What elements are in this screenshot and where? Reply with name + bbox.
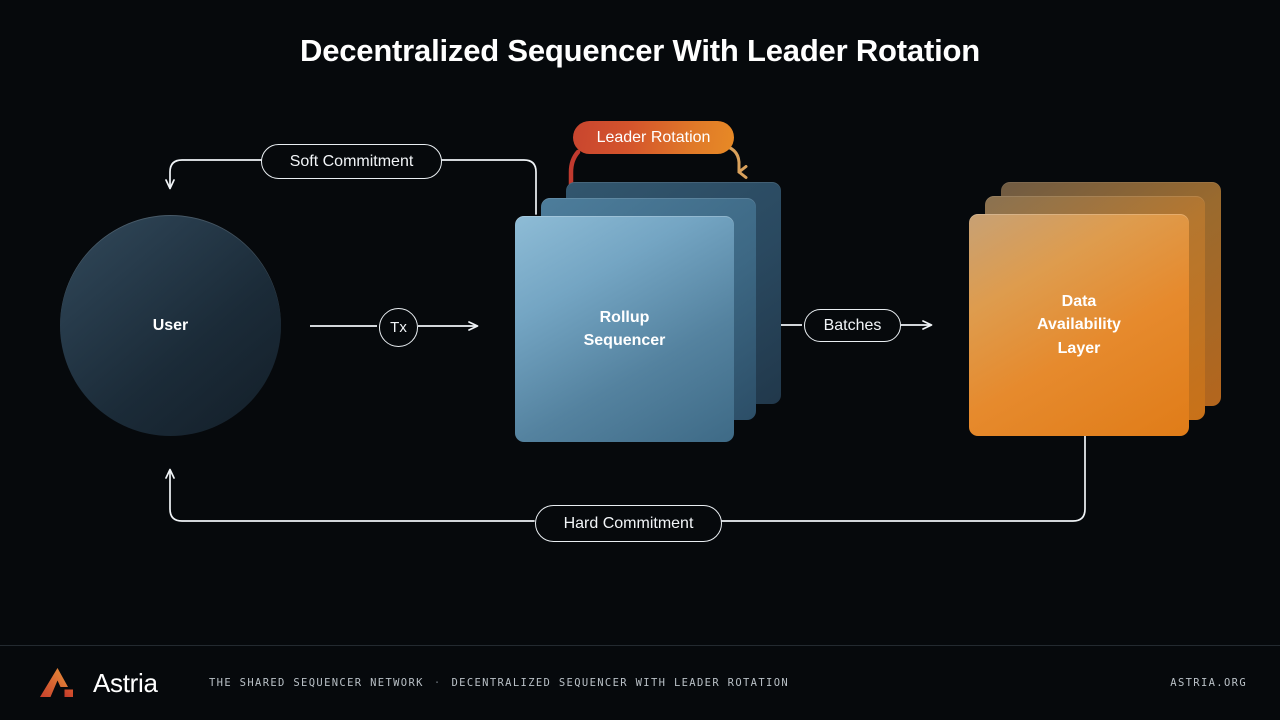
brand-name: Astria xyxy=(93,668,158,699)
edge-label-batches[interactable]: Batches xyxy=(804,309,901,342)
node-data-availability-layer-card-front[interactable]: Data Availability Layer xyxy=(969,214,1189,436)
node-data-availability-layer[interactable]: Data Availability Layer xyxy=(969,182,1229,436)
node-data-availability-layer-label-line2: Availability xyxy=(1037,316,1121,333)
footer: Astria THE SHARED SEQUENCER NETWORK · DE… xyxy=(0,646,1280,720)
edge-label-tx[interactable]: Tx xyxy=(379,308,418,347)
node-rollup-sequencer-card-front[interactable]: Rollup Sequencer xyxy=(515,216,734,442)
footer-tagline-separator: · xyxy=(424,677,452,689)
slide-canvas: Decentralized Sequencer With Leader Rota… xyxy=(0,0,1280,720)
footer-tagline-right: DECENTRALIZED SEQUENCER WITH LEADER ROTA… xyxy=(451,677,789,689)
node-rollup-sequencer-label-line2: Sequencer xyxy=(584,332,666,349)
footer-tagline: THE SHARED SEQUENCER NETWORK · DECENTRAL… xyxy=(209,646,789,720)
astria-logo-icon xyxy=(40,668,78,698)
node-data-availability-layer-label: Data Availability Layer xyxy=(1037,290,1121,360)
edge-label-hard-commitment[interactable]: Hard Commitment xyxy=(535,505,722,542)
footer-tagline-left: THE SHARED SEQUENCER NETWORK xyxy=(209,677,424,689)
node-user[interactable]: User xyxy=(60,215,281,436)
node-rollup-sequencer-label-line1: Rollup xyxy=(600,309,650,326)
node-data-availability-layer-label-line1: Data xyxy=(1062,293,1097,310)
footer-site-url[interactable]: ASTRIA.ORG xyxy=(1170,646,1247,720)
node-user-label: User xyxy=(153,317,189,335)
node-rollup-sequencer[interactable]: Rollup Sequencer xyxy=(515,182,785,442)
edge-label-soft-commitment[interactable]: Soft Commitment xyxy=(261,144,442,179)
node-data-availability-layer-label-line3: Layer xyxy=(1058,340,1101,357)
node-rollup-sequencer-label: Rollup Sequencer xyxy=(584,306,666,352)
leader-rotation-badge[interactable]: Leader Rotation xyxy=(573,121,734,154)
footer-brand[interactable]: Astria xyxy=(40,646,158,720)
